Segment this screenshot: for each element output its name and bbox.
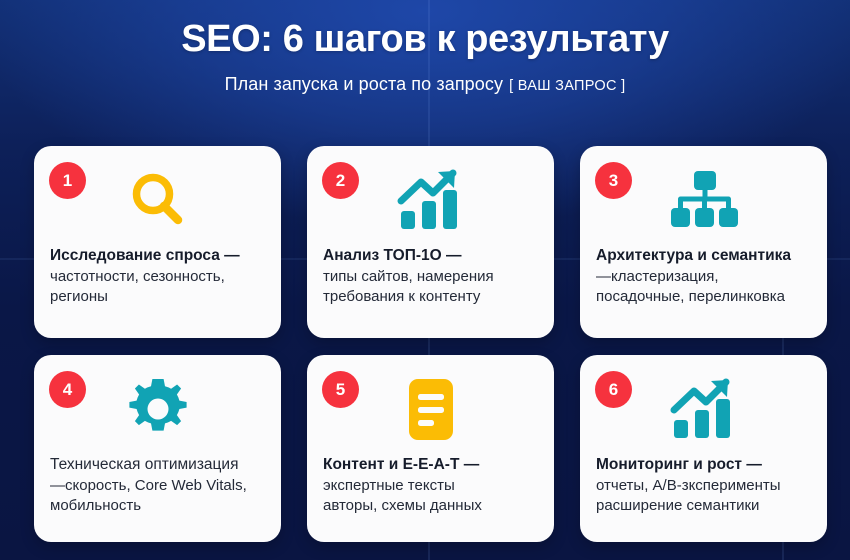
step-detail-line: частотности, сезонность, (50, 267, 269, 287)
step-detail-line: —кластеризация, (596, 267, 815, 287)
step-details-3: —кластеризация, посадочные, перелинковка (596, 267, 815, 307)
step-text-5: Контент и E-E-A-T — экспертные тексты ав… (323, 455, 542, 516)
step-heading-3: Архитектура и семантика (596, 246, 815, 266)
step-details-5: экспертные тексты авторы, схемы данных (323, 476, 542, 516)
step-details-1: частотности, сезонность, регионы (50, 267, 269, 307)
step-details-4: —скорость, Core Web Vitals, мобильность (50, 476, 269, 516)
step-text-1: Исследование спроса — частотности, сезон… (50, 246, 269, 307)
step-card-6[interactable]: 6 Мониторинг и рост — отчеты, A/B-зкспер… (580, 355, 827, 542)
step-heading-1: Исследование спроса — (50, 246, 269, 266)
page-subtitle: План запуска и роста по запросу[ ВАШ ЗАП… (0, 74, 850, 95)
growth-chart-icon (307, 164, 554, 238)
growth-chart-icon (580, 373, 827, 447)
step-detail-line: мобильность (50, 496, 269, 516)
step-details-2: типы сайтов, намерения требования к конт… (323, 267, 542, 307)
step-heading-4: Техническая оптимизация (50, 455, 269, 475)
step-text-6: Мониторинг и рост — отчеты, A/B-зксперим… (596, 455, 815, 516)
query-placeholder-tag: [ ВАШ ЗАПРОС ] (509, 78, 625, 94)
poster-header: SEO: 6 шагов к результату План запуска и… (0, 0, 850, 95)
step-detail-line: расширение семантики (596, 496, 815, 516)
gear-icon (34, 373, 281, 447)
step-text-3: Архитектура и семантика —кластеризация, … (596, 246, 815, 307)
infographic-poster: SEO: 6 шагов к результату План запуска и… (0, 0, 850, 560)
step-detail-line: регионы (50, 287, 269, 307)
step-card-5[interactable]: 5 Контент и E-E-A-T — экспертные тексты … (307, 355, 554, 542)
step-detail-line: типы сайтов, намерения (323, 267, 542, 287)
step-detail-line: авторы, схемы данных (323, 496, 542, 516)
page-title: SEO: 6 шагов к результату (0, 18, 850, 62)
subtitle-text: План запуска и роста по запросу (225, 74, 504, 94)
step-card-3[interactable]: 3 Архитектура и семантика —кластеризация… (580, 146, 827, 338)
step-detail-line: требования к контенту (323, 287, 542, 307)
step-text-2: Анализ ТОП-1О — типы сайтов, намерения т… (323, 246, 542, 307)
step-detail-line: отчеты, A/B-зксперименты (596, 476, 815, 496)
step-heading-2: Анализ ТОП-1О — (323, 246, 542, 266)
step-card-2[interactable]: 2 Анализ ТОП-1О — типы сайтов, намерения… (307, 146, 554, 338)
step-text-4: Техническая оптимизация —скорость, Core … (50, 455, 269, 516)
step-detail-line: посадочные, перелинковка (596, 287, 815, 307)
step-card-4[interactable]: 4 Техническая оптимизация —скорость, Cor… (34, 355, 281, 542)
document-icon (307, 373, 554, 447)
sitemap-icon (580, 164, 827, 238)
step-detail-line: —скорость, Core Web Vitals, (50, 476, 269, 496)
step-details-6: отчеты, A/B-зксперименты расширение сема… (596, 476, 815, 516)
magnifier-icon (34, 164, 281, 238)
step-detail-line: экспертные тексты (323, 476, 542, 496)
step-heading-5: Контент и E-E-A-T — (323, 455, 542, 475)
step-card-1[interactable]: 1 Исследование спроса — частотности, сез… (34, 146, 281, 338)
step-heading-6: Мониторинг и рост — (596, 455, 815, 475)
steps-grid: 1 Исследование спроса — частотности, сез… (34, 146, 816, 542)
